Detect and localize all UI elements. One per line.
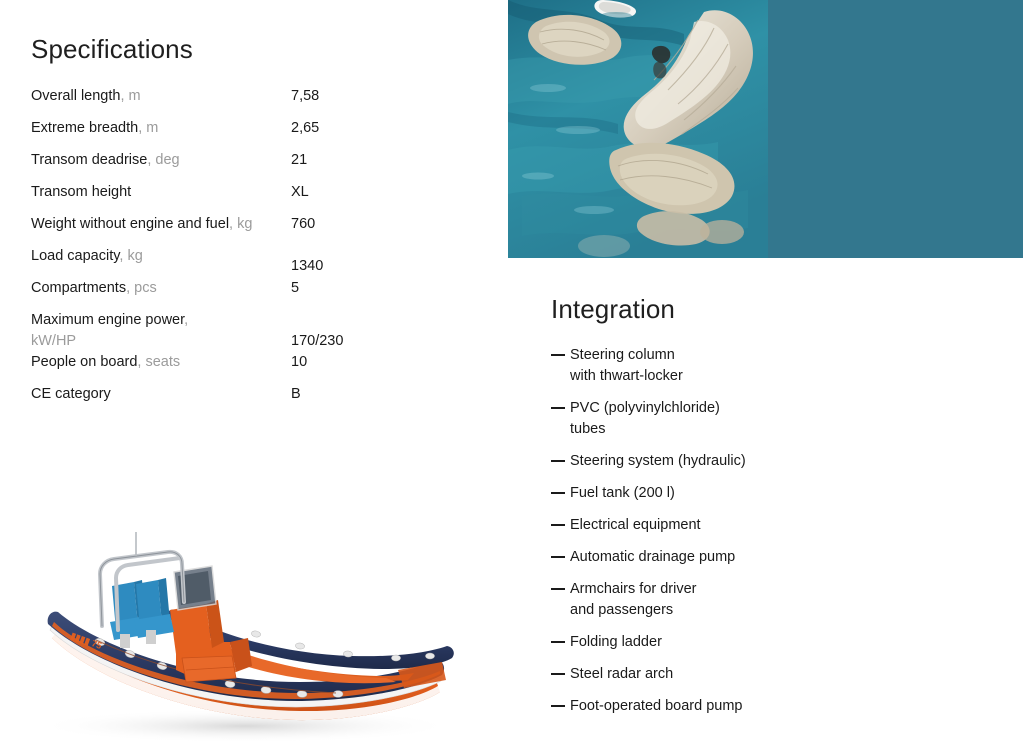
table-row: Weight without engine and fuel, kg 760 [31,214,451,246]
spec-value: 760 [291,214,315,235]
spec-value: 7,58 [291,86,319,107]
spec-unit: , pcs [126,280,157,296]
list-item: Steel radar arch [551,664,971,685]
rigid-inflatable-boat-icon: ▮▮▮▮ 75 [0,530,500,747]
list-item-label: Steering column with thwart-locker [570,345,971,387]
boat-illustration: ▮▮▮▮ 75 [0,530,500,747]
list-item-label: Electrical equipment [570,515,971,536]
spec-label: Load capacity, kg [31,246,281,267]
dash-marker-icon [551,354,565,356]
page-title-integration: Integration [551,296,675,322]
list-item-label: Folding ladder [570,632,971,653]
spec-unit: , m [120,88,140,104]
table-row: Maximum engine power,kW/HP 170/230 [31,310,451,352]
list-item: PVC (polyvinylchloride) tubes [551,398,971,440]
dash-marker-icon [551,641,565,643]
spec-label: CE category [31,384,281,405]
spec-value: 10 [291,352,307,373]
dash-marker-icon [551,524,565,526]
list-item: Steering column with thwart-locker [551,345,971,387]
dash-marker-icon [551,705,565,707]
table-row: People on board, seats 10 [31,352,451,384]
dash-marker-icon [551,673,565,675]
spec-label: Compartments, pcs [31,278,281,299]
spec-label: Overall length, m [31,86,281,107]
integration-list: Steering column with thwart-locker PVC (… [551,345,971,728]
hero-photo-band [508,0,1023,258]
table-row: Transom deadrise, deg 21 [31,150,451,182]
shoreline-photo [508,0,768,258]
spec-value: 5 [291,278,299,299]
list-item: Automatic drainage pump [551,547,971,568]
list-item-label: Armchairs for driver and passengers [570,579,971,621]
spec-unit: , m [138,120,158,136]
table-row: Compartments, pcs 5 [31,278,451,310]
spec-label: Transom deadrise, deg [31,150,281,171]
list-item-label: Fuel tank (200 l) [570,483,971,504]
list-item-label: Foot-operated board pump [570,696,971,717]
teal-color-panel [768,0,1023,258]
list-item-label: Steering system (hydraulic) [570,451,971,472]
list-item-label: PVC (polyvinylchloride) tubes [570,398,971,440]
table-row: Overall length, m 7,58 [31,86,451,118]
specifications-table: Overall length, m 7,58 Extreme breadth, … [31,86,451,416]
spec-label: Maximum engine power,kW/HP [31,310,281,352]
page-title-specifications: Specifications [31,36,193,62]
list-item: Foot-operated board pump [551,696,971,717]
spec-value: 2,65 [291,118,319,139]
list-item: Armchairs for driver and passengers [551,579,971,621]
dash-marker-icon [551,556,565,558]
dash-marker-icon [551,588,565,590]
list-item: Steering system (hydraulic) [551,451,971,472]
table-row: Load capacity, kg 1340 [31,246,451,278]
dash-marker-icon [551,407,565,409]
spec-unit: , deg [147,152,179,168]
spec-label: Extreme breadth, m [31,118,281,139]
table-row: Extreme breadth, m 2,65 [31,118,451,150]
left-column: Specifications Overall length, m 7,58 Ex… [0,0,500,747]
spec-unit: , seats [137,354,180,370]
spec-value: 1340 [291,256,323,277]
table-row: Transom height XL [31,182,451,214]
dash-marker-icon [551,460,565,462]
table-row: CE category B [31,384,451,416]
spec-label: Weight without engine and fuel, kg [31,214,281,235]
list-item-label: Steel radar arch [570,664,971,685]
spec-value: XL [291,182,309,203]
sea-and-rocks-photo-icon [508,0,768,258]
spec-value: 21 [291,150,307,171]
spec-value: B [291,384,301,405]
spec-label: Transom height [31,182,281,203]
dash-marker-icon [551,492,565,494]
spec-unit: , kg [119,248,142,264]
spec-unit: , kg [229,216,252,232]
spec-label: People on board, seats [31,352,281,373]
spec-value: 170/230 [291,331,343,352]
list-item: Fuel tank (200 l) [551,483,971,504]
list-item: Folding ladder [551,632,971,653]
list-item: Electrical equipment [551,515,971,536]
list-item-label: Automatic drainage pump [570,547,971,568]
